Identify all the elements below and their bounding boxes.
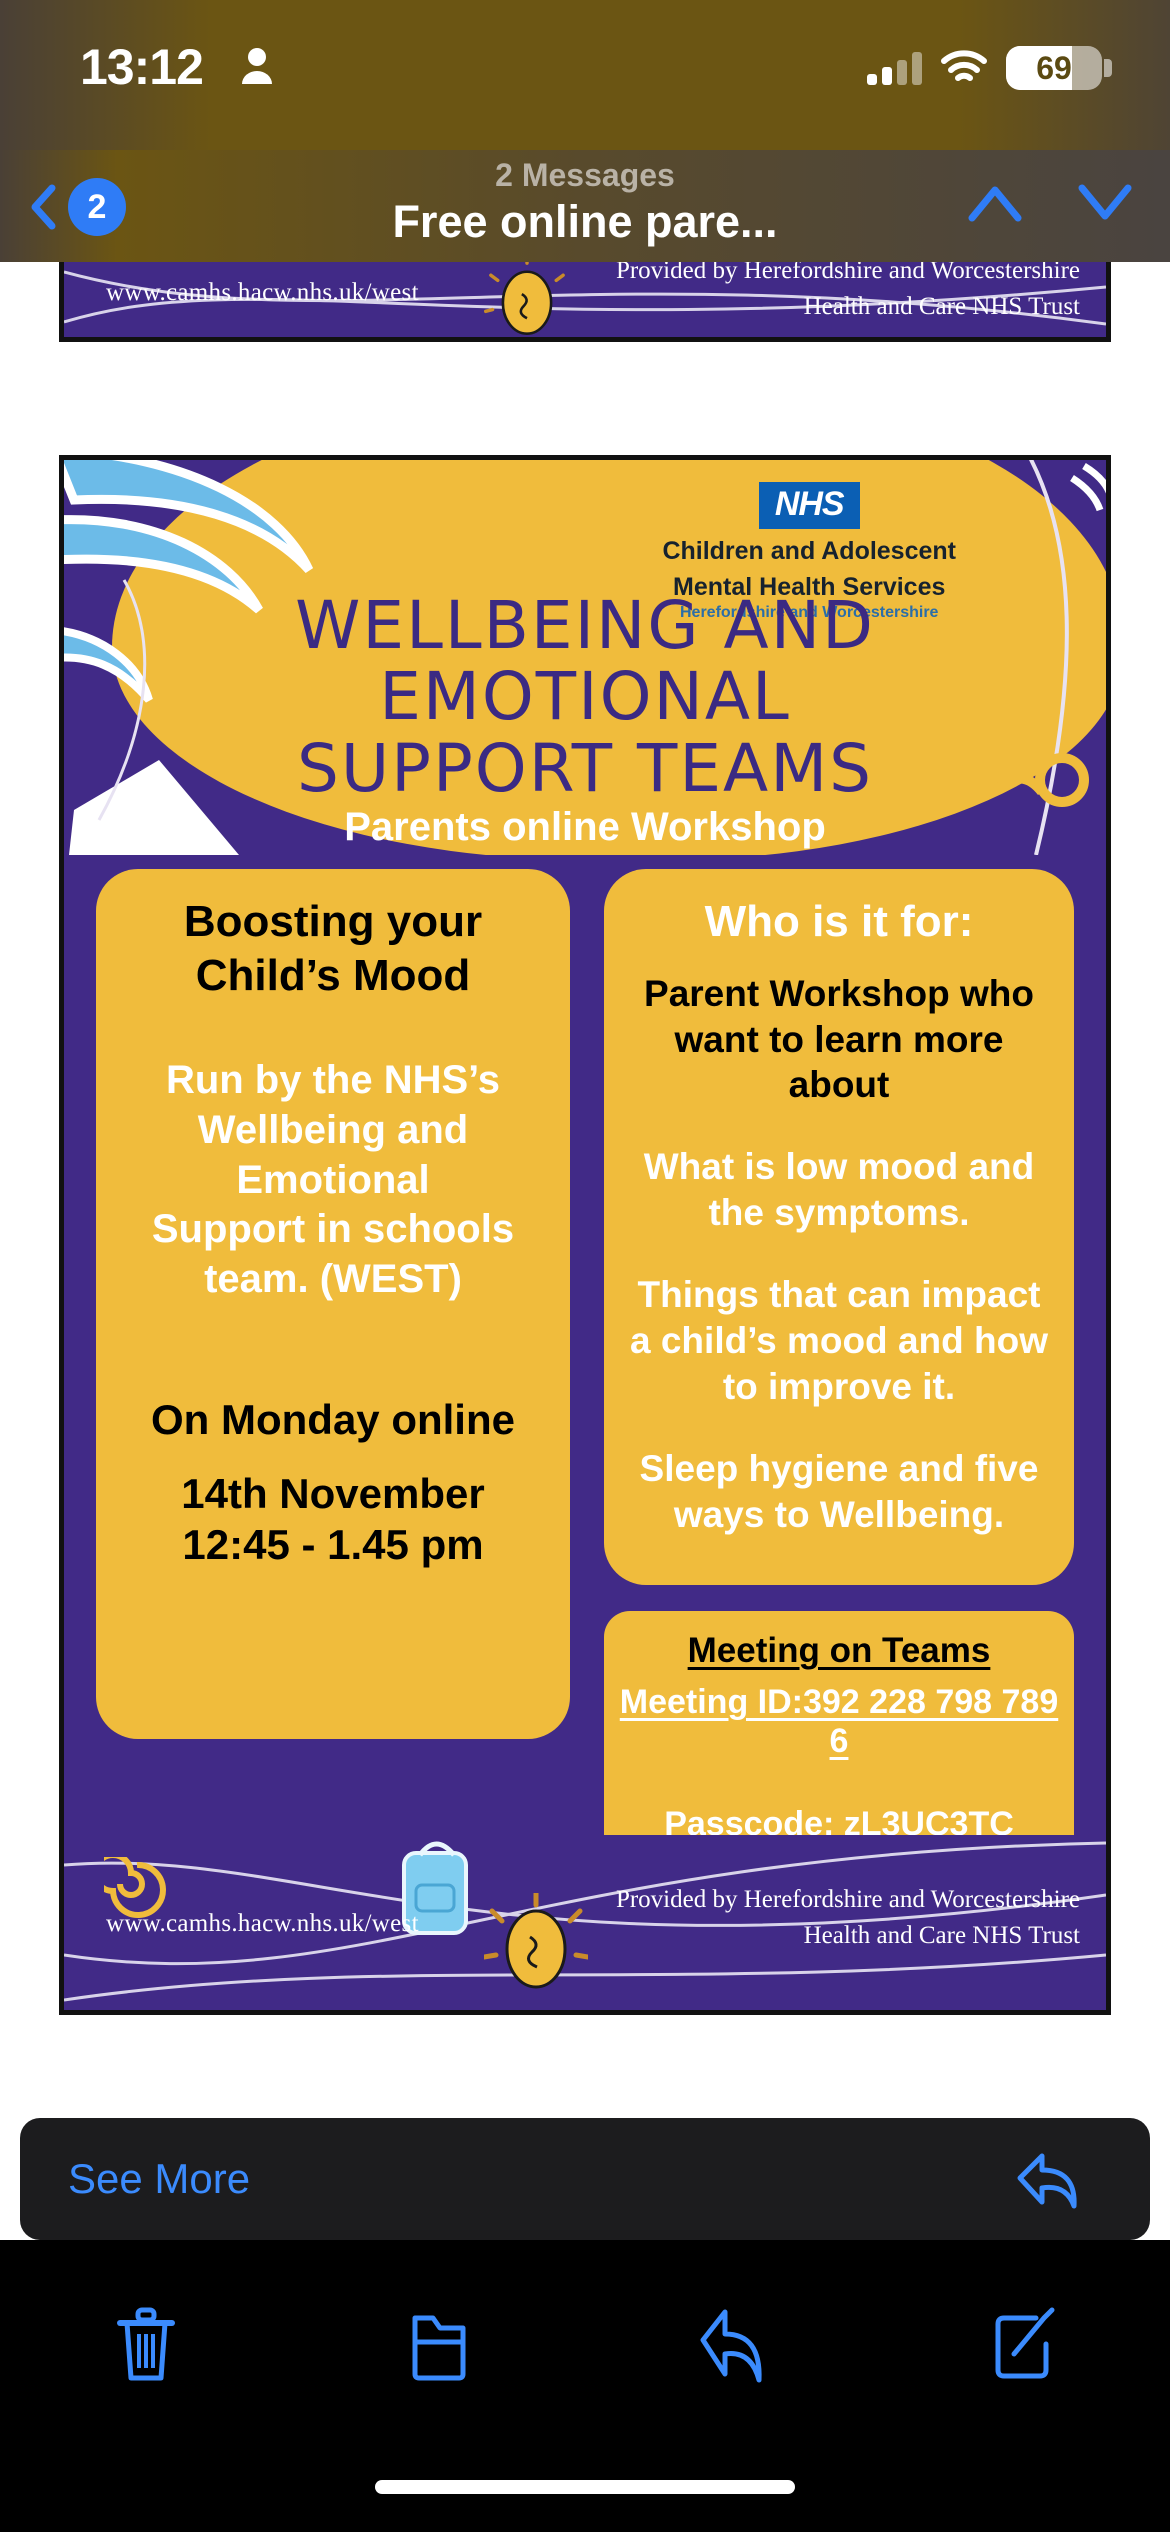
spacer	[622, 1108, 1056, 1144]
previous-attachment-poster[interactable]: www.camhs.hacw.nhs.uk/west Provided by H…	[59, 257, 1111, 342]
unread-count-badge[interactable]: 2	[68, 178, 126, 236]
right-card: Who is it for: Parent Workshop who want …	[604, 869, 1074, 1585]
teams-title: Meeting on Teams	[618, 1631, 1060, 1671]
nav-title: Free online pare...	[275, 194, 895, 250]
poster-title-line-2: EMOTIONAL	[64, 661, 1106, 732]
see-more-bar[interactable]: See More	[20, 2118, 1150, 2240]
nav-subtitle: 2 Messages	[275, 156, 895, 194]
folder-icon[interactable]	[403, 2304, 475, 2386]
reply-arrow-icon[interactable]	[1016, 2152, 1082, 2210]
spacer	[114, 1446, 552, 1468]
person-icon	[240, 46, 274, 84]
poster-title: WELLBEING AND EMOTIONAL SUPPORT TEAMS	[64, 590, 1106, 804]
date-line-3: 12:45 - 1.45 pm	[114, 1519, 552, 1570]
left-body-line-3: Emotional	[114, 1156, 552, 1206]
left-heading-line-2: Child’s Mood	[114, 949, 552, 1003]
cellular-signal-icon	[867, 51, 922, 85]
right-card-point-3: Sleep hygiene and five ways to Wellbeing…	[622, 1446, 1056, 1538]
battery-icon: 69	[1006, 46, 1112, 90]
nhs-service-line-1: Children and Adolescent	[662, 537, 956, 565]
spacer	[622, 1537, 1056, 1559]
status-time: 13:12	[80, 38, 203, 96]
poster-provider: Provided by Herefordshire and Worcesters…	[616, 1882, 1080, 1955]
point-1-line-2: the symptoms.	[622, 1190, 1056, 1236]
poster-footer: www.camhs.hacw.nhs.uk/west Provided by H…	[64, 1835, 1106, 2010]
spacer	[622, 1236, 1056, 1272]
status-bar: 13:12 69	[0, 0, 1170, 150]
right-card-intro: Parent Workshop who want to learn more a…	[622, 971, 1056, 1109]
point-2-line-2: a child’s mood and how	[622, 1318, 1056, 1364]
back-button[interactable]: 2	[30, 178, 126, 236]
chevron-down-icon[interactable]	[1076, 180, 1134, 224]
poster-provider-top: Provided by Herefordshire and Worcesters…	[616, 257, 1080, 325]
point-2-line-1: Things that can impact	[622, 1272, 1056, 1318]
battery-body: 69	[1006, 46, 1102, 90]
poster-subtitle: Parents online Workshop	[64, 805, 1106, 850]
left-body-line-1: Run by the NHS’s	[114, 1056, 552, 1106]
left-body-line-2: Wellbeing and	[114, 1106, 552, 1156]
tab-bar	[0, 2240, 1170, 2532]
point-2-line-3: to improve it.	[622, 1364, 1056, 1410]
poster-title-line-1: WELLBEING AND	[64, 590, 1106, 661]
spacer	[622, 1410, 1056, 1446]
poster-url: www.camhs.hacw.nhs.uk/west	[106, 1910, 419, 1938]
provider-line-1: Provided by Herefordshire and Worcesters…	[616, 1882, 1080, 1918]
message-thread[interactable]: www.camhs.hacw.nhs.uk/west Provided by H…	[0, 262, 1170, 2090]
poster-footer-band: www.camhs.hacw.nhs.uk/west Provided by H…	[64, 257, 1106, 337]
point-1-line-1: What is low mood and	[622, 1144, 1056, 1190]
poster-attachment[interactable]: NHS Children and Adolescent Mental Healt…	[59, 455, 1111, 2015]
right-column: Who is it for: Parent Workshop who want …	[604, 869, 1074, 1870]
wifi-icon	[940, 50, 988, 86]
poster-title-line-3: SUPPORT TEAMS	[64, 733, 1106, 804]
home-indicator[interactable]	[375, 2480, 795, 2494]
date-line-1: On Monday online	[114, 1394, 552, 1445]
reply-button[interactable]	[585, 2290, 878, 2400]
provider-line-2-top: Health and Care NHS Trust	[616, 289, 1080, 325]
battery-percent: 69	[1006, 46, 1102, 90]
poster-url-top: www.camhs.hacw.nhs.uk/west	[106, 279, 419, 307]
left-card-body: Run by the NHS’s Wellbeing and Emotional…	[114, 1056, 552, 1304]
message-navigation	[966, 180, 1134, 224]
teams-meeting-box: Meeting on Teams Meeting ID:392 228 798 …	[604, 1611, 1074, 1870]
spacer	[114, 1358, 552, 1394]
poster-cards: Boosting your Child’s Mood Run by the NH…	[64, 855, 1106, 1870]
provider-line-2: Health and Care NHS Trust	[616, 1918, 1080, 1954]
point-3-line-2: ways to Wellbeing.	[622, 1492, 1056, 1538]
chevron-up-icon[interactable]	[966, 180, 1024, 224]
nhs-logo: NHS	[759, 482, 860, 529]
move-to-folder-button[interactable]	[293, 2290, 586, 2400]
lightbulb-icon	[484, 258, 570, 337]
right-card-point-2: Things that can impact a child’s mood an…	[622, 1272, 1056, 1410]
compose-icon[interactable]	[988, 2304, 1060, 2386]
trash-icon[interactable]	[110, 2304, 182, 2386]
tab-bar-items	[0, 2290, 1170, 2400]
status-indicators: 69	[867, 46, 1112, 90]
see-more-link[interactable]: See More	[68, 2155, 250, 2203]
teams-meeting-id: Meeting ID:392 228 798 789 6	[618, 1683, 1060, 1761]
left-card: Boosting your Child’s Mood Run by the NH…	[96, 869, 570, 1739]
spacer	[622, 949, 1056, 971]
lightbulb-icon	[484, 1893, 588, 1997]
battery-tip	[1104, 59, 1112, 77]
left-card-date: On Monday online 14th November 12:45 - 1…	[114, 1394, 552, 1570]
chevron-left-icon[interactable]	[30, 184, 56, 230]
left-card-heading: Boosting your Child’s Mood	[114, 895, 552, 1002]
right-card-point-1: What is low mood and the symptoms.	[622, 1144, 1056, 1236]
reply-arrow-icon[interactable]	[695, 2304, 767, 2386]
navigation-bar: 2 2 Messages Free online pare...	[0, 150, 1170, 262]
intro-line-2: want to learn more about	[622, 1017, 1056, 1109]
spacer	[114, 1304, 552, 1358]
delete-button[interactable]	[0, 2290, 293, 2400]
left-body-line-5: team. (WEST)	[114, 1255, 552, 1305]
poster-header: NHS Children and Adolescent Mental Healt…	[64, 460, 1106, 855]
date-line-2: 14th November	[114, 1468, 552, 1519]
intro-line-1: Parent Workshop who	[622, 971, 1056, 1017]
point-3-line-1: Sleep hygiene and five	[622, 1446, 1056, 1492]
spacer	[114, 1002, 552, 1056]
left-heading-line-1: Boosting your	[114, 895, 552, 949]
nav-title-group: 2 Messages Free online pare...	[275, 156, 895, 251]
left-body-line-4: Support in schools	[114, 1205, 552, 1255]
compose-button[interactable]	[878, 2290, 1170, 2400]
right-card-heading: Who is it for:	[622, 895, 1056, 949]
